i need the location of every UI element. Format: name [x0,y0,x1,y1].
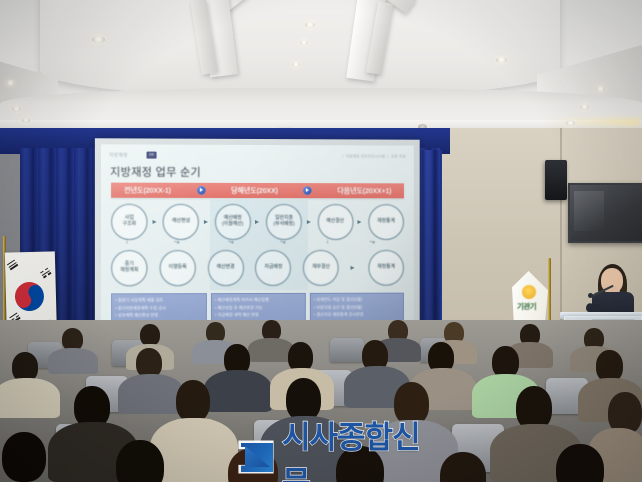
flow-node: 재무결산 [303,250,339,286]
arrow-right-icon [358,219,364,225]
phase-label-next-year: 다음년도(20XX+1) [337,186,391,196]
flag-label: 기관기 [517,301,545,312]
downlight-icon [580,104,589,110]
flow-node-line1: 재무결산 [312,265,330,271]
arrow-down-icon: ↓ [125,238,129,245]
flow-node-line1: 예산변경 [217,265,235,271]
flow-row-top: 사업 구조화 예산편성 예산배정 (이월예산) 일반지출 [111,204,404,240]
person-head [2,432,46,482]
person-head [140,324,160,346]
trigram-icon [7,260,18,271]
arrow-right-icon [351,265,357,271]
person-head [116,440,164,482]
watermark: 시사종합신문 [236,436,426,478]
arrow-right-icon [307,219,313,225]
downlight-icon [22,118,30,123]
downlight-icon [92,36,105,43]
downlight-icon [300,40,308,45]
arrow-right-icon [196,186,205,195]
flow-row-bottom: 중기 재정계획 이행등록 예산변경 자금배정 [111,250,404,286]
slide-section-badge-label: 04 [146,152,156,159]
watermark-text: 시사종합신문 [282,412,426,482]
arrow-right-icon [204,219,210,225]
monitor-glare [574,191,604,231]
phase-band: 전년도(20XX-1) 당해년도(20XX) 다음년도(20XX+1) [111,183,404,199]
downlight-icon [292,62,300,67]
flow-node: 중기 재정계획 [111,250,147,286]
arrow-right-icon [303,186,312,195]
flow-node: 일반지출 (부서배정) [266,204,302,240]
flow-node: 사업 구조화 [111,204,147,240]
flow-node-line1: 예산편성 [172,219,190,225]
flow-node-line2: (이월예산) [222,222,243,228]
downlight-icon [596,86,605,92]
slide-section-badge: 04 [146,152,156,159]
person-shoulders [118,374,184,414]
news-logo-icon [236,439,276,475]
flow-node: 예산편성 [163,204,199,240]
wall-speaker-icon [545,160,567,200]
flow-node: 예산결산 [317,204,353,240]
person-shoulders [48,348,98,374]
flow-node: 재정통계 [368,250,404,286]
person-shoulders [0,378,60,418]
phase-label-current-year: 당해년도(20XX) [231,185,278,195]
presentation-slide: 지방재정 04 ㅣ 지방재정 업무전산시스템 ㅣ 교육 자료 지방재정 업무 순… [101,144,414,330]
slide-kicker: 지방재정 [109,152,128,158]
downlight-icon [496,57,507,63]
flow-node-line2: 구조화 [122,222,136,228]
bullet-line: 자금배정 내역 예산 반영 [215,311,302,318]
slide-top-right-note: ㅣ 지방재정 업무전산시스템 ㅣ 교육 자료 [341,154,406,159]
arrow-right-icon [152,219,158,225]
cove-light-glow [544,118,640,126]
flow-node-line1: 재정통계 [377,265,395,271]
arrow-down-icon: ↓ [326,238,329,245]
auditorium-photo: 지방재정 04 ㅣ 지방재정 업무전산시스템 ㅣ 교육 자료 지방재정 업무 순… [0,0,642,482]
flow-node: 예산변경 [208,250,244,286]
microphone-icon [588,293,593,298]
chair [330,338,364,362]
downlight-icon [566,120,575,126]
slide-title: 지방재정 업무 순기 [110,163,201,179]
flow-node-line1: 재정통계 [377,219,395,225]
flow-node: 재정통계 [368,204,404,240]
flow-node-line1: 이행등록 [169,265,187,271]
flag-emblem-icon [522,285,536,299]
bullet-line: 성과계획 예산편성 반영 [115,311,203,318]
flow-node-line2: (부서배정) [273,222,294,228]
taeguk-icon [9,276,49,316]
projection-screen: 지방재정 04 ㅣ 지방재정 업무전산시스템 ㅣ 교육 자료 지방재정 업무 순… [95,138,420,336]
wall-monitor [568,183,642,243]
downlight-icon [12,106,21,112]
downlight-icon [305,22,315,28]
flow-node-line1: 예산결산 [326,219,344,225]
person-shoulders [204,370,272,412]
person-head [176,380,210,422]
flow-node-line2: 재정계획 [120,268,138,274]
phase-label-previous-year: 전년도(20XX-1) [124,185,171,195]
flow-node: 예산배정 (이월예산) [215,204,251,240]
flow-node-line1: 자금배정 [264,265,282,271]
flow-node: 자금배정 [255,250,291,286]
bullet-line: 결산자료 재정통계 공시반영 [314,310,400,317]
arrow-right-icon [255,219,261,225]
trigram-icon [40,268,51,279]
downlight-icon [6,80,15,86]
flow-node: 이행등록 [159,250,195,286]
ceiling-inner-panel [40,0,560,98]
flow-diagram: 사업 구조화 예산편성 예산배정 (이월예산) 일반지출 [111,200,404,291]
